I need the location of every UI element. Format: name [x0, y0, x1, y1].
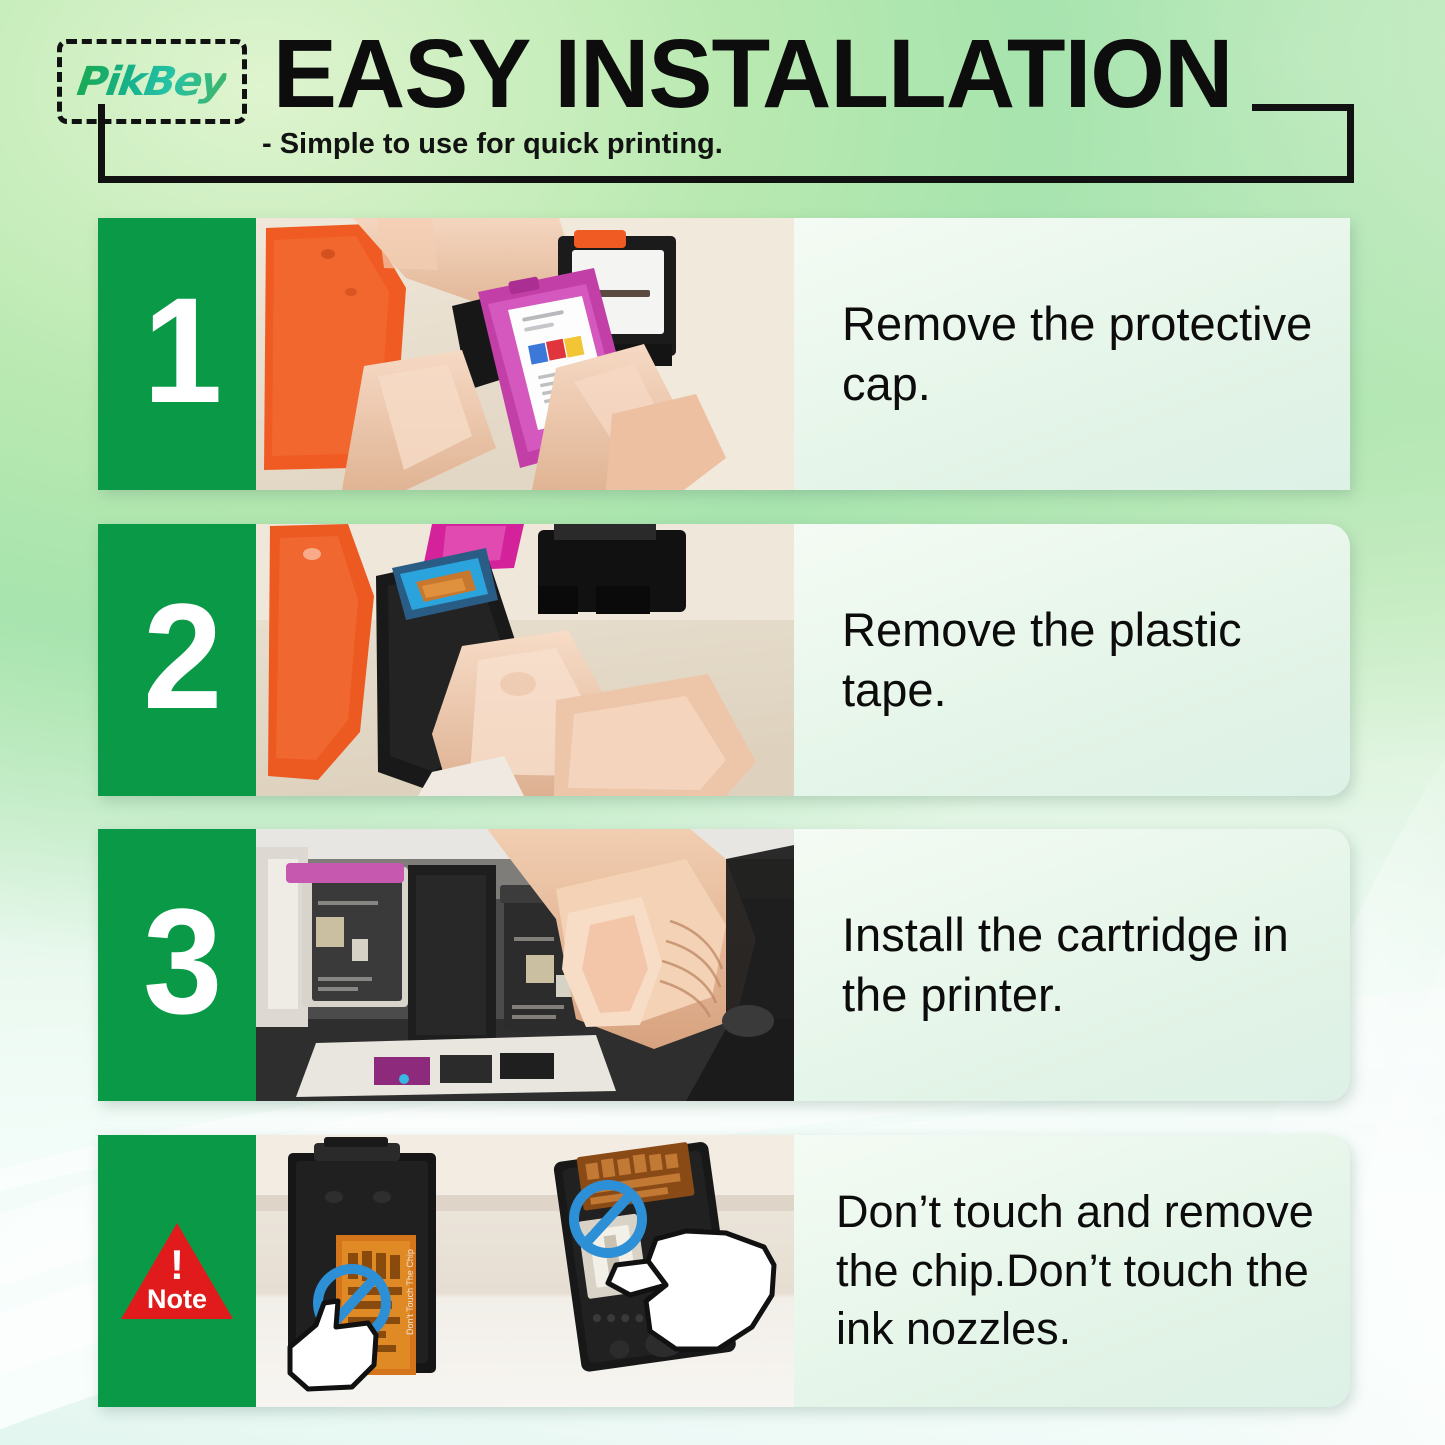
step-caption-text: Remove the protective cap.: [842, 294, 1328, 414]
step-card: 1: [98, 218, 1350, 490]
warning-triangle-icon: ! Note: [121, 1223, 233, 1319]
page-title: EASY INSTALLATION: [273, 25, 1233, 122]
step-number: 1: [143, 275, 222, 425]
header: PikBey EASY INSTALLATION - Simple to use…: [0, 0, 1445, 205]
step-number: 2: [143, 581, 222, 731]
step-caption-text: Install the cartridge in the printer.: [842, 905, 1328, 1025]
note-badge: ! Note: [98, 1135, 256, 1407]
step-badge-2: 2: [98, 524, 256, 796]
step-caption-3: Install the cartridge in the printer.: [794, 829, 1350, 1101]
step-caption-text: Remove the plastic tape.: [842, 600, 1328, 720]
step-photo-3: [256, 829, 794, 1101]
brand-logo-text: PikBey: [75, 59, 230, 105]
step-badge-1: 1: [98, 218, 256, 490]
header-frame-top-right: [1252, 104, 1354, 111]
step-card: 2: [98, 524, 1350, 796]
step-photo-2: [256, 524, 794, 796]
step-card: 3: [98, 829, 1350, 1101]
note-caption: Don’t touch and remove the chip.Don’t to…: [794, 1135, 1350, 1407]
note-label: Note: [121, 1284, 233, 1315]
step-number: 3: [143, 886, 222, 1036]
svg-text:Don't Touch The Chip: Don't Touch The Chip: [405, 1249, 415, 1335]
note-card: ! Note: [98, 1135, 1350, 1407]
note-photo: Don't Touch The Chip: [256, 1135, 794, 1407]
page-subtitle: - Simple to use for quick printing.: [262, 128, 723, 161]
step-caption-1: Remove the protective cap.: [794, 218, 1350, 490]
brand-logo: PikBey: [57, 39, 247, 124]
step-badge-3: 3: [98, 829, 256, 1101]
step-caption-2: Remove the plastic tape.: [794, 524, 1350, 796]
step-photo-1: [256, 218, 794, 490]
exclamation-mark: !: [121, 1249, 233, 1281]
note-caption-text: Don’t touch and remove the chip.Don’t to…: [836, 1183, 1328, 1359]
